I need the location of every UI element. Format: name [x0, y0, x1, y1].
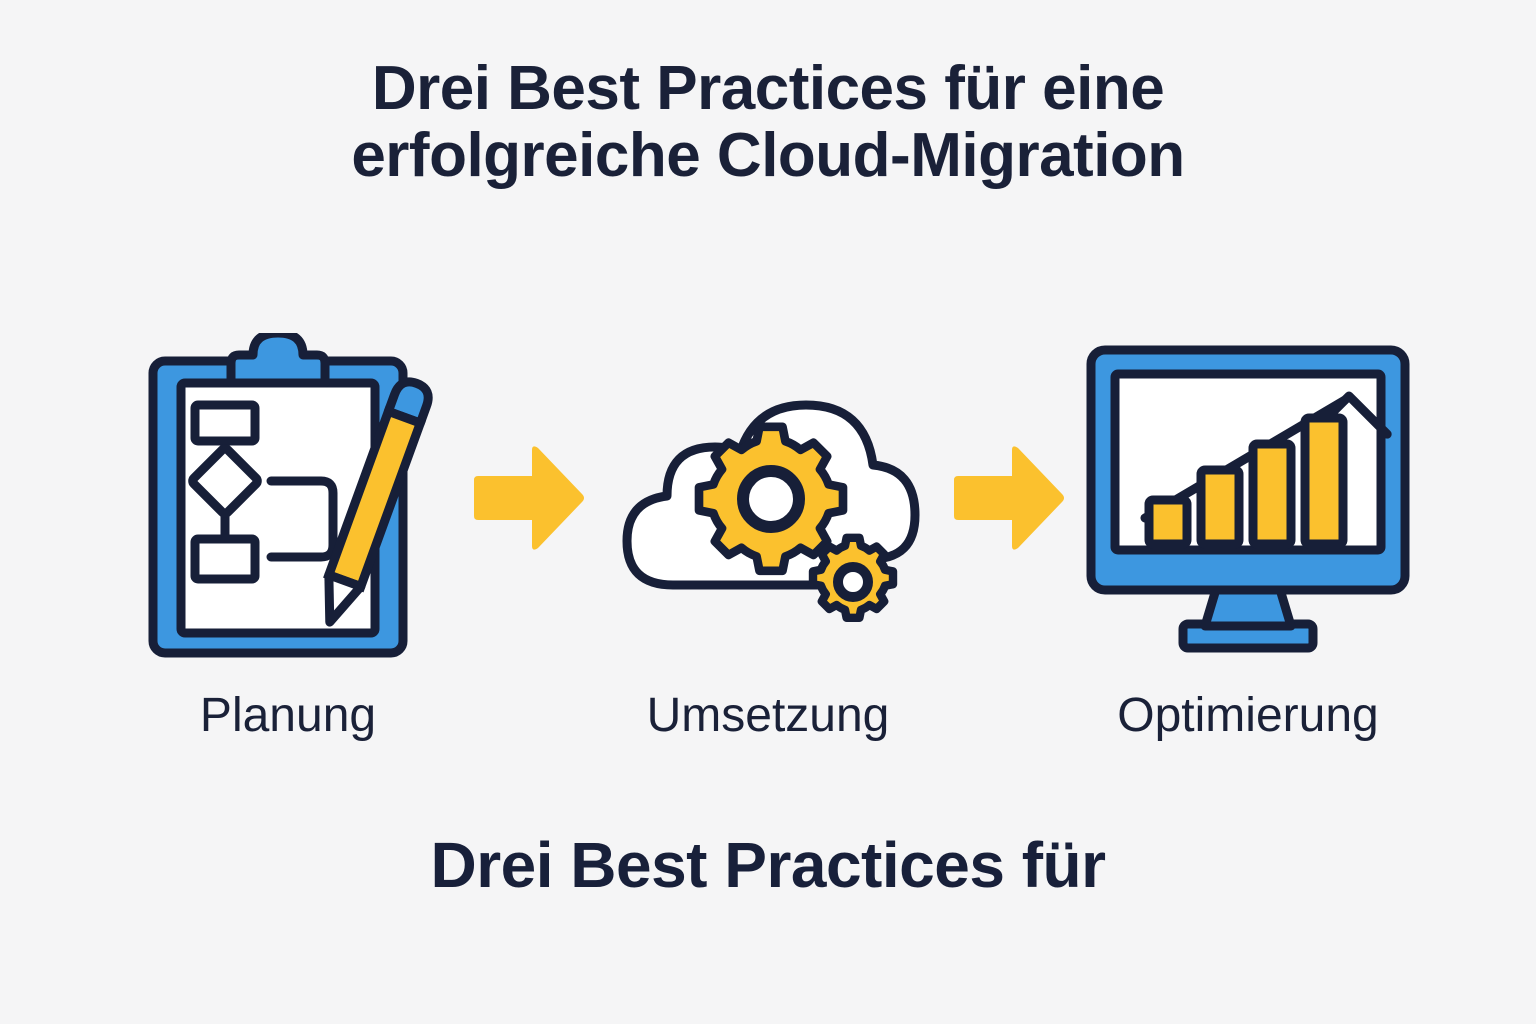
title-line-1: Drei Best Practices für eine — [0, 56, 1536, 123]
footer-heading: Drei Best Practices für — [0, 832, 1536, 899]
bar-2 — [1201, 470, 1239, 544]
gear-small-hub — [838, 567, 868, 597]
bar-4 — [1305, 418, 1343, 544]
process-steps-row — [0, 318, 1536, 678]
gear-large-hub — [743, 471, 799, 527]
clipboard-flowchart-pencil-icon — [143, 333, 433, 663]
monitor-growth-chart-icon — [1083, 338, 1413, 658]
arrow-planung-to-umsetzung — [453, 438, 603, 558]
gear-small — [813, 538, 893, 618]
flowchart-top-box — [195, 405, 255, 441]
arrow-right-icon — [950, 444, 1066, 552]
title-line-2: erfolgreiche Cloud-Migration — [0, 123, 1536, 190]
page-title: Drei Best Practices für eine erfolgreich… — [0, 56, 1536, 190]
bar-1 — [1149, 500, 1187, 544]
cloud-gears-icon — [603, 353, 933, 643]
step-label-optimierung: Optimierung — [1083, 692, 1413, 740]
step-icon-optimierung[interactable] — [1083, 328, 1413, 668]
arrow-right-icon — [470, 444, 586, 552]
flowchart-bottom-box — [195, 539, 255, 579]
bar-3 — [1253, 444, 1291, 544]
step-label-umsetzung: Umsetzung — [603, 692, 933, 740]
process-labels-row: Planung Umsetzung Optimierung — [0, 692, 1536, 776]
clipboard-clip — [231, 333, 325, 383]
step-icon-planung[interactable] — [123, 328, 453, 668]
step-label-planung: Planung — [123, 692, 453, 740]
infographic-canvas: Drei Best Practices für eine erfolgreich… — [0, 0, 1536, 1024]
arrow-umsetzung-to-optimierung — [933, 438, 1083, 558]
step-icon-umsetzung[interactable] — [603, 328, 933, 668]
